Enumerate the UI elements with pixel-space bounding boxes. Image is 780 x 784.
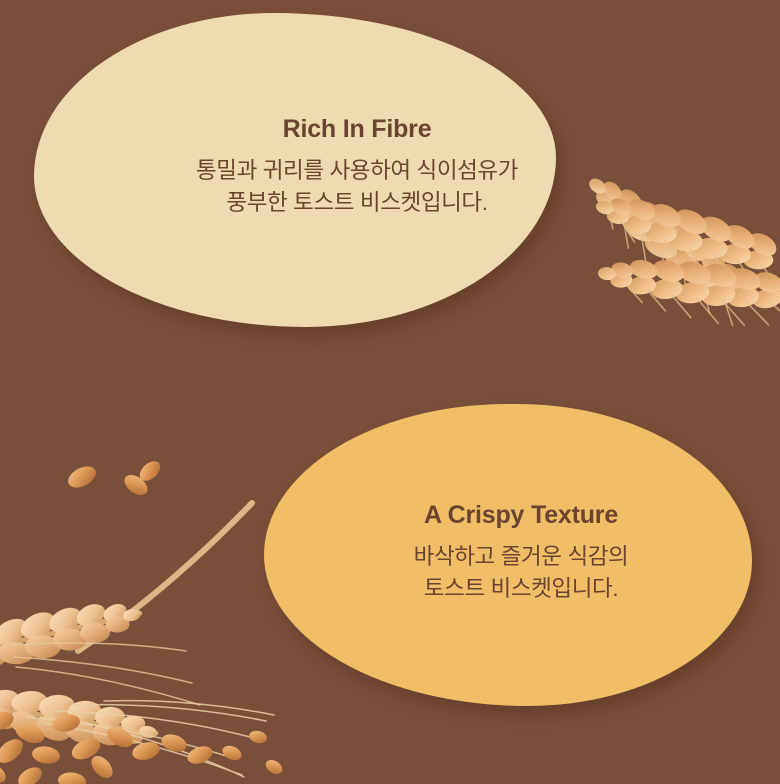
card-heading-rich-in-fibre: Rich In Fibre [283,115,432,144]
promo-banner: Rich In Fibre 통밀과 귀리를 사용하여 식이섬유가 풍부한 토스트… [0,0,780,784]
feature-card-rich-in-fibre: Rich In Fibre 통밀과 귀리를 사용하여 식이섬유가 풍부한 토스트… [34,13,556,327]
card-body-rich-in-fibre: 통밀과 귀리를 사용하여 식이섬유가 풍부한 토스트 비스켓입니다. [196,155,518,220]
card-body-line: 풍부한 토스트 비스켓입니다. [196,187,518,219]
card-heading-a-crispy-texture: A Crispy Texture [424,501,618,530]
card-body-line: 통밀과 귀리를 사용하여 식이섬유가 [196,155,518,187]
card-body-line: 토스트 비스켓입니다. [414,573,629,605]
card-body-line: 바삭하고 즐거운 식감의 [414,541,629,573]
card-body-a-crispy-texture: 바삭하고 즐거운 식감의 토스트 비스켓입니다. [414,541,629,606]
feature-card-a-crispy-texture: A Crispy Texture 바삭하고 즐거운 식감의 토스트 비스켓입니다… [264,404,752,706]
